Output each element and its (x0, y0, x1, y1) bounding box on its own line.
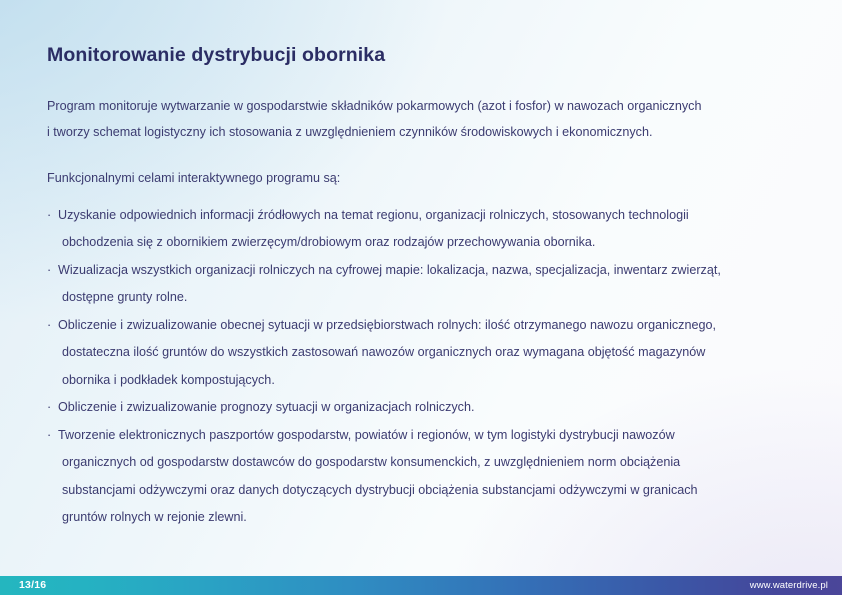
list-item-line: Uzyskanie odpowiednich informacji źródło… (58, 202, 799, 230)
intro-paragraph: Program monitoruje wytwarzanie w gospoda… (47, 94, 799, 145)
list-item-line: Obliczenie i zwizualizowanie prognozy sy… (58, 394, 799, 422)
bullet-icon: · (47, 394, 51, 422)
slide: Monitorowanie dystrybucji obornika Progr… (0, 0, 842, 595)
list-item-line: substancjami odżywczymi oraz danych doty… (58, 477, 799, 505)
list-item: · Wizualizacja wszystkich organizacji ro… (47, 257, 799, 312)
slide-content: Monitorowanie dystrybucji obornika Progr… (47, 42, 799, 532)
footer-website-link[interactable]: www.waterdrive.pl (750, 576, 828, 595)
list-item-line: Obliczenie i zwizualizowanie obecnej syt… (58, 312, 799, 340)
list-item-line: obchodzenia się z obornikiem zwierzęcym/… (58, 229, 799, 257)
bullet-icon: · (47, 312, 51, 340)
list-item-line: Tworzenie elektronicznych paszportów gos… (58, 422, 799, 450)
list-item-line: organicznych od gospodarstw dostawców do… (58, 449, 799, 477)
list-item: · Tworzenie elektronicznych paszportów g… (47, 422, 799, 532)
list-item-line: gruntów rolnych w rejonie zlewni. (58, 504, 799, 532)
list-item: · Obliczenie i zwizualizowanie obecnej s… (47, 312, 799, 395)
list-item-line: dostępne grunty rolne. (58, 284, 799, 312)
objectives-lead-in: Funkcjonalnymi celami interaktywnego pro… (47, 166, 799, 192)
slide-footer: 13/16 www.waterdrive.pl (0, 576, 842, 595)
list-item-line: dostateczna ilość gruntów do wszystkich … (58, 339, 799, 367)
list-item-line: Wizualizacja wszystkich organizacji roln… (58, 257, 799, 285)
objectives-list: · Uzyskanie odpowiednich informacji źród… (47, 202, 799, 532)
list-item: · Obliczenie i zwizualizowanie prognozy … (47, 394, 799, 422)
page-title: Monitorowanie dystrybucji obornika (47, 42, 799, 68)
list-item: · Uzyskanie odpowiednich informacji źród… (47, 202, 799, 257)
spacer (47, 192, 799, 202)
list-item-line: obornika i podkładek kompostujących. (58, 367, 799, 395)
page-number: 13/16 (19, 576, 46, 595)
bullet-icon: · (47, 202, 51, 230)
bullet-icon: · (47, 422, 51, 450)
spacer (47, 145, 799, 166)
intro-line-1: Program monitoruje wytwarzanie w gospoda… (47, 99, 701, 113)
intro-line-2: i tworzy schemat logistyczny ich stosowa… (47, 120, 799, 146)
bullet-icon: · (47, 257, 51, 285)
